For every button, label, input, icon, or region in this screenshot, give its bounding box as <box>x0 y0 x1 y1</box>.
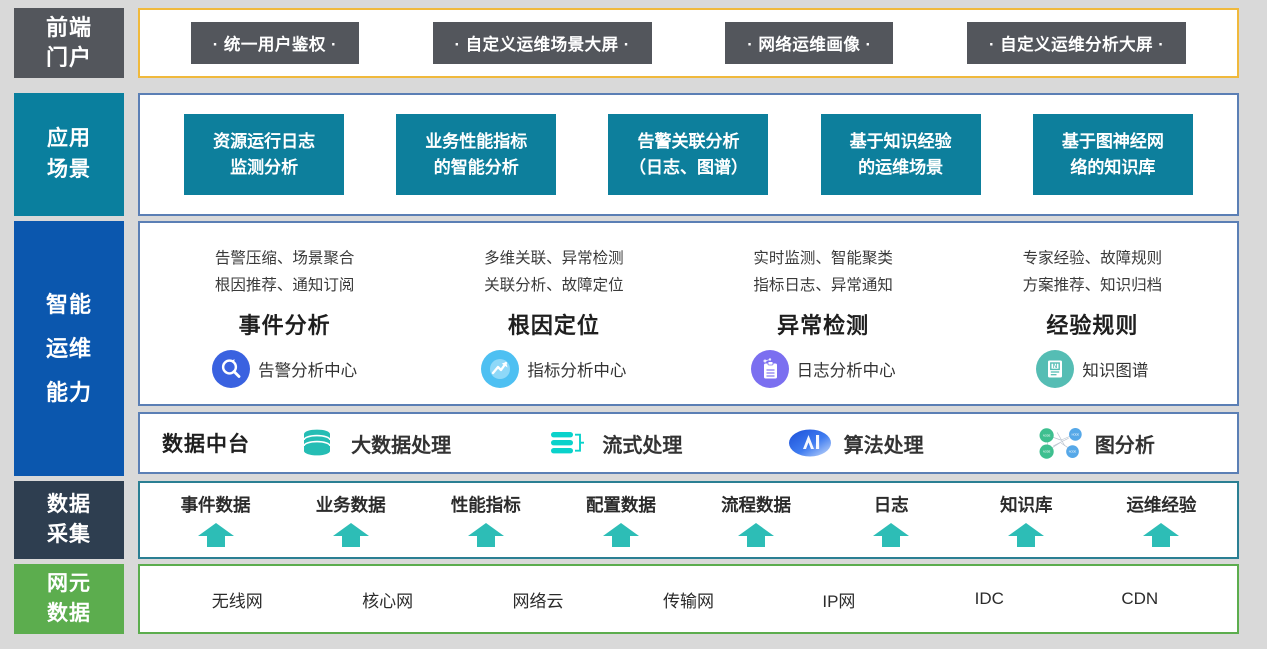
network-item-ip[interactable]: IP网 <box>764 587 914 612</box>
row-label-line: 数据 <box>47 490 91 520</box>
data-platform-item-label: 大数据处理 <box>351 429 451 458</box>
front-portal-panel: · 统一用户鉴权 · · 自定义运维场景大屏 · · 网络运维画像 · · 自定… <box>138 8 1239 78</box>
data-platform-item-graph[interactable]: NODENODE NODENODE 图分析 <box>978 426 1215 460</box>
data-middle-platform-title: 数据中台 <box>162 428 250 458</box>
row-label-line: 场景 <box>47 155 91 185</box>
capability-experience-rules[interactable]: 专家经验、故障规则 方案推荐、知识归档 经验规则 N <box>958 223 1227 404</box>
svg-text:NODE: NODE <box>1043 433 1051 437</box>
row-label-line: 采集 <box>47 520 91 550</box>
row-label-front-portal: 前端 门户 <box>14 8 124 78</box>
row-intelligent-ops-capability: 智能 运维 能力 告警压缩、场景聚合 根因推荐、通知订阅 事件分析 <box>0 221 1253 476</box>
capability-title: 事件分析 <box>239 308 331 340</box>
row-label-line: 门户 <box>46 43 92 73</box>
row-label-line: 网元 <box>47 569 91 599</box>
row-label-line: 前端 <box>46 13 92 43</box>
network-item-wireless[interactable]: 无线网 <box>162 587 312 612</box>
arrow-up-icon <box>871 522 911 548</box>
capability-anomaly-detection[interactable]: 实时监测、智能聚类 指标日志、异常通知 异常检测 <box>689 223 958 404</box>
portal-chip-unified-auth[interactable]: · 统一用户鉴权 · <box>191 22 359 64</box>
network-item-idc[interactable]: IDC <box>914 589 1064 609</box>
capability-bullet-line: 多维关联、异常检测 <box>484 245 624 272</box>
app-card-line: 告警关联分析 <box>624 129 752 155</box>
aiops-capabilities-panel: 告警压缩、场景聚合 根因推荐、通知订阅 事件分析 告警分析中心 <box>138 221 1239 406</box>
svg-text:NODE: NODE <box>1072 432 1080 436</box>
app-card-business-kpi-analysis[interactable]: 业务性能指标 的智能分析 <box>396 114 556 195</box>
capability-center-link[interactable]: 告警分析中心 <box>212 350 357 388</box>
network-item-core[interactable]: 核心网 <box>312 587 462 612</box>
capability-bullet-line: 方案推荐、知识归档 <box>1023 272 1163 299</box>
data-middle-platform-panel: 数据中台 大数据处理 <box>138 412 1239 474</box>
capability-bullet-line: 专家经验、故障规则 <box>1023 245 1163 272</box>
portal-chip-custom-ops-screen[interactable]: · 自定义运维场景大屏 · <box>433 22 652 64</box>
capability-bullet-line: 告警压缩、场景聚合 <box>215 245 355 272</box>
database-icon <box>294 426 340 460</box>
data-platform-item-label: 流式处理 <box>602 429 682 458</box>
app-card-alarm-correlation-analysis[interactable]: 告警关联分析 （日志、图谱） <box>608 114 768 195</box>
row-label-application-scenarios: 应用 场景 <box>14 93 124 216</box>
arrow-up-icon <box>736 522 776 548</box>
capability-center-label: 知识图谱 <box>1082 357 1148 381</box>
arrow-up-icon <box>1006 522 1046 548</box>
app-card-line: 监测分析 <box>200 155 328 181</box>
app-card-line: （日志、图谱） <box>624 155 752 181</box>
capability-bullet-line: 关联分析、故障定位 <box>484 272 624 299</box>
app-card-line: 基于图神经网 <box>1049 129 1177 155</box>
arrow-up-icon <box>331 522 371 548</box>
collection-item-label: 运维经验 <box>1126 492 1196 517</box>
collection-item-performance-kpi[interactable]: 性能指标 <box>418 483 553 557</box>
magnifier-icon <box>212 350 250 388</box>
row-label-line: 应用 <box>47 124 91 154</box>
collection-item-knowledge-base[interactable]: 知识库 <box>959 483 1094 557</box>
collection-item-label: 日志 <box>874 492 909 517</box>
arrow-up-icon <box>466 522 506 548</box>
ai-icon <box>787 426 833 460</box>
stream-icon <box>545 426 591 460</box>
data-collection-panel: 事件数据 业务数据 性能指标 配置数据 流程数据 日志 <box>138 481 1239 559</box>
collection-item-config-data[interactable]: 配置数据 <box>553 483 688 557</box>
row-label-line: 数据 <box>47 599 91 629</box>
collection-item-ops-experience[interactable]: 运维经验 <box>1094 483 1229 557</box>
app-card-line: 的运维场景 <box>837 155 965 181</box>
row-label-line: 运维 <box>46 327 92 371</box>
row-front-portal: 前端 门户 · 统一用户鉴权 · · 自定义运维场景大屏 · · 网络运维画像 … <box>0 8 1253 78</box>
data-platform-item-label: 图分析 <box>1095 429 1155 458</box>
collection-item-process-data[interactable]: 流程数据 <box>689 483 824 557</box>
row-label-line: 智能 <box>46 283 92 327</box>
row-label-line: 能力 <box>46 371 92 415</box>
data-platform-item-algorithm[interactable]: 算法处理 <box>737 426 974 460</box>
network-item-cloud[interactable]: 网络云 <box>463 587 613 612</box>
capability-title: 异常检测 <box>777 308 869 340</box>
trend-arrow-icon <box>481 350 519 388</box>
row-network-element-data: 网元 数据 无线网 核心网 网络云 传输网 IP网 IDC CDN <box>0 564 1253 634</box>
aiops-stack: 告警压缩、场景聚合 根因推荐、通知订阅 事件分析 告警分析中心 <box>138 221 1239 476</box>
capability-center-link[interactable]: 日志分析中心 <box>751 350 896 388</box>
row-label-data-collection: 数据 采集 <box>14 481 124 559</box>
app-card-line: 资源运行日志 <box>200 129 328 155</box>
graph-nodes-icon: NODENODE NODENODE <box>1038 426 1084 460</box>
data-platform-item-bigdata[interactable]: 大数据处理 <box>254 426 491 460</box>
capability-center-link[interactable]: N 知识图谱 <box>1036 350 1148 388</box>
data-platform-item-label: 算法处理 <box>844 429 924 458</box>
network-element-data-panel: 无线网 核心网 网络云 传输网 IP网 IDC CDN <box>138 564 1239 634</box>
capability-event-analysis[interactable]: 告警压缩、场景聚合 根因推荐、通知订阅 事件分析 告警分析中心 <box>150 223 419 404</box>
capability-center-label: 指标分析中心 <box>527 357 626 381</box>
collection-item-business-data[interactable]: 业务数据 <box>283 483 418 557</box>
capability-title: 经验规则 <box>1046 308 1138 340</box>
app-card-line: 络的知识库 <box>1049 155 1177 181</box>
app-card-resource-log-monitoring[interactable]: 资源运行日志 监测分析 <box>184 114 344 195</box>
portal-chip-network-ops-profile[interactable]: · 网络运维画像 · <box>725 22 893 64</box>
capability-root-cause-location[interactable]: 多维关联、异常检测 关联分析、故障定位 根因定位 指标分析中心 <box>419 223 688 404</box>
svg-text:NODE: NODE <box>1069 450 1077 454</box>
knowledge-doc-icon: N <box>1036 350 1074 388</box>
collection-item-label: 业务数据 <box>316 492 386 517</box>
capability-bullet-line: 实时监测、智能聚类 <box>753 245 893 272</box>
svg-text:NODE: NODE <box>1043 450 1051 454</box>
arrow-up-icon <box>1141 522 1181 548</box>
svg-text:N: N <box>1053 364 1057 370</box>
portal-chip-custom-analysis-screen[interactable]: · 自定义运维分析大屏 · <box>967 22 1186 64</box>
row-label-network-element-data: 网元 数据 <box>14 564 124 634</box>
app-card-gnn-knowledge-base[interactable]: 基于图神经网 络的知识库 <box>1033 114 1193 195</box>
arrow-up-icon <box>196 522 236 548</box>
capability-center-label: 告警分析中心 <box>258 357 357 381</box>
collection-item-logs[interactable]: 日志 <box>824 483 959 557</box>
collection-item-label: 性能指标 <box>451 492 521 517</box>
row-label-intelligent-ops-capability: 智能 运维 能力 <box>14 221 124 476</box>
app-card-line: 的智能分析 <box>412 155 540 181</box>
clipboard-icon <box>751 350 789 388</box>
capability-center-link[interactable]: 指标分析中心 <box>481 350 626 388</box>
architecture-diagram: 前端 门户 · 统一用户鉴权 · · 自定义运维场景大屏 · · 网络运维画像 … <box>0 0 1267 649</box>
app-card-line: 业务性能指标 <box>412 129 540 155</box>
application-scenarios-panel: 资源运行日志 监测分析 业务性能指标 的智能分析 告警关联分析 （日志、图谱） … <box>138 93 1239 216</box>
network-item-transport[interactable]: 传输网 <box>613 587 763 612</box>
capability-bullet-line: 根因推荐、通知订阅 <box>215 272 355 299</box>
collection-item-label: 流程数据 <box>721 492 791 517</box>
collection-item-event-data[interactable]: 事件数据 <box>148 483 283 557</box>
collection-item-label: 知识库 <box>1000 492 1053 517</box>
network-item-cdn[interactable]: CDN <box>1065 589 1215 609</box>
capability-bullet-line: 指标日志、异常通知 <box>753 272 893 299</box>
capability-title: 根因定位 <box>508 308 600 340</box>
collection-item-label: 配置数据 <box>586 492 656 517</box>
row-data-collection: 数据 采集 事件数据 业务数据 性能指标 配置数据 流程数据 <box>0 481 1253 559</box>
app-card-knowledge-experience-ops[interactable]: 基于知识经验 的运维场景 <box>821 114 981 195</box>
app-card-line: 基于知识经验 <box>837 129 965 155</box>
arrow-up-icon <box>601 522 641 548</box>
data-platform-item-stream[interactable]: 流式处理 <box>495 426 732 460</box>
row-application-scenarios: 应用 场景 资源运行日志 监测分析 业务性能指标 的智能分析 告警关联分析 （日… <box>0 93 1253 216</box>
collection-item-label: 事件数据 <box>181 492 251 517</box>
capability-center-label: 日志分析中心 <box>797 357 896 381</box>
